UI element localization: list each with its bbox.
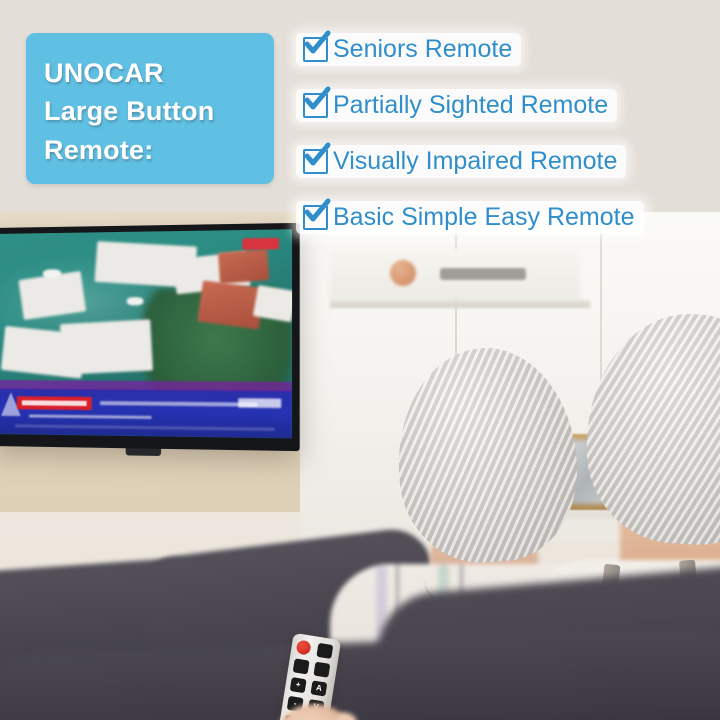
checklist-item-visually-impaired-remote: Visually Impaired Remote [296, 145, 626, 178]
checklist-item-label: Seniors Remote [333, 35, 512, 63]
shelf-object [440, 268, 526, 280]
boat [127, 297, 144, 305]
flooded-rooftop [60, 319, 153, 374]
checklist-item-basic-simple-easy-remote: Basic Simple Easy Remote [296, 201, 644, 234]
power-button-icon[interactable] [296, 640, 312, 656]
breaking-news-tag [17, 396, 92, 410]
remote-button[interactable] [313, 662, 330, 678]
shelf-ornament [390, 260, 416, 286]
feature-checklist: Seniors Remote Partially Sighted Remote … [296, 33, 712, 257]
checklist-item-label: Basic Simple Easy Remote [333, 203, 635, 231]
channel-up-button[interactable]: A [310, 680, 327, 696]
brand-subtitle-line-2: Remote: [44, 131, 274, 169]
boat [43, 269, 61, 278]
checklist-item-label: Visually Impaired Remote [333, 147, 617, 175]
volume-up-button[interactable]: + [290, 677, 307, 693]
ticker-time [238, 398, 281, 408]
ticker-crawl [15, 424, 275, 431]
flooded-rooftop [253, 285, 292, 322]
remote-button[interactable] [316, 643, 333, 659]
cabinet-shelf [330, 300, 590, 308]
checkbox-checked-icon [303, 37, 328, 62]
flooded-rooftop-red [218, 249, 269, 284]
tv-stand [126, 448, 161, 456]
television [0, 223, 300, 451]
ticker-subtext [29, 414, 152, 419]
product-marketing-image: + A - V UNOCAR Large Button Remote: Seni… [0, 0, 720, 720]
checkbox-checked-icon [303, 93, 328, 118]
broadcast-logo [242, 238, 279, 250]
brand-subtitle-line-1: Large Button [44, 92, 274, 130]
checklist-item-partially-sighted-remote: Partially Sighted Remote [296, 89, 617, 122]
living-room-photo: + A - V [0, 212, 720, 720]
brand-callout-box: UNOCAR Large Button Remote: [26, 33, 274, 184]
checklist-item-label: Partially Sighted Remote [333, 91, 608, 119]
checkbox-checked-icon [303, 149, 328, 174]
ticker-headline [100, 401, 258, 407]
news-ticker [0, 388, 292, 438]
brand-name: UNOCAR [44, 54, 274, 92]
ticker-highlight [0, 380, 292, 391]
checklist-item-seniors-remote: Seniors Remote [296, 33, 521, 66]
checkbox-checked-icon [303, 205, 328, 230]
tv-screen [0, 229, 292, 438]
remote-button[interactable] [293, 658, 310, 674]
